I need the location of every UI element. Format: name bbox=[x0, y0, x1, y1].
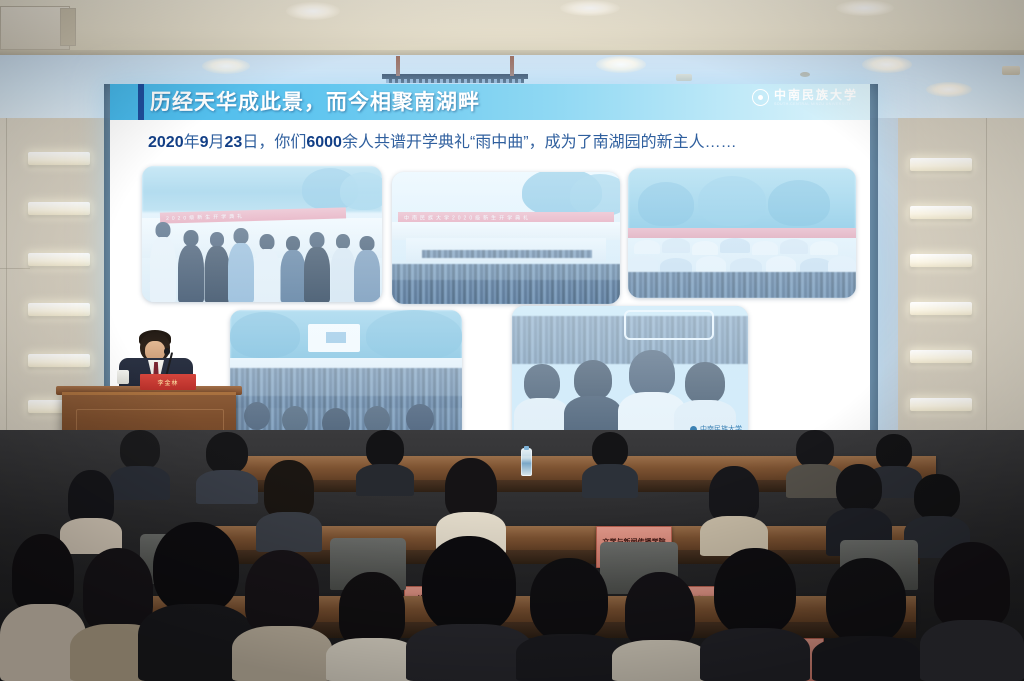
audience-person bbox=[356, 430, 414, 496]
microphone-head-icon bbox=[164, 348, 170, 355]
photo-light-wash bbox=[628, 168, 856, 298]
slide-photo-3 bbox=[628, 168, 856, 298]
wall-lamp bbox=[910, 302, 972, 315]
audience-person bbox=[232, 550, 332, 681]
photo-light-wash bbox=[230, 310, 462, 440]
water-cup bbox=[117, 370, 129, 384]
wall-lamp bbox=[910, 206, 972, 219]
audience-person bbox=[326, 572, 418, 681]
ceiling-downlight bbox=[286, 2, 340, 20]
photo-light-wash bbox=[512, 306, 748, 440]
wall-lamp bbox=[910, 254, 972, 267]
university-logo: 中南民族大学 SOUTH-CENTRAL MINZU UNIVERSITY bbox=[752, 89, 858, 107]
slide-photo-2: 中南民族大学2020级新生开学典礼 bbox=[392, 172, 620, 304]
audience-person bbox=[256, 460, 322, 552]
subtitle-month: 9 bbox=[200, 134, 209, 151]
slide-photo-4 bbox=[230, 310, 462, 440]
water-bottle bbox=[521, 448, 532, 476]
slide-title: 历经天华成此景，而今相聚南湖畔 bbox=[150, 87, 480, 119]
subtitle-mid3: 日，你们 bbox=[242, 134, 306, 151]
wall-lamp bbox=[28, 303, 90, 316]
photo-light-wash bbox=[392, 172, 620, 304]
audience-person bbox=[406, 536, 532, 681]
audience-person bbox=[812, 558, 920, 681]
ceiling-downlight bbox=[596, 56, 646, 73]
audience-person bbox=[582, 432, 638, 498]
ceiling-downlight bbox=[202, 58, 250, 74]
audience-person bbox=[196, 432, 258, 504]
slide-header-accent bbox=[138, 84, 144, 120]
audience-person bbox=[700, 466, 768, 556]
ceiling-downlight bbox=[926, 82, 972, 97]
smoke-detector-icon bbox=[800, 72, 810, 77]
slide-photo-5: 中南民族大学 bbox=[512, 306, 748, 440]
logo-name-cn: 中南民族大学 bbox=[774, 89, 858, 101]
subtitle-mid2: 月 bbox=[209, 134, 225, 151]
wall-lamp bbox=[28, 354, 90, 367]
subtitle-mid1: 年 bbox=[184, 134, 200, 151]
truss-leg bbox=[510, 56, 514, 76]
audience-person bbox=[700, 548, 810, 681]
screen-frame-right bbox=[869, 84, 878, 449]
subtitle-year: 2020 bbox=[148, 134, 184, 151]
audience-person bbox=[516, 558, 622, 681]
slide-subtitle: 2020年9月23日，你们6000余人共谱开学典礼“雨中曲”，成为了南湖园的新主… bbox=[148, 128, 848, 152]
wall-lamp bbox=[28, 253, 90, 266]
ceiling-downlight bbox=[560, 0, 620, 16]
podium-nameplate-text: 李金林 bbox=[157, 378, 178, 387]
ceiling-speaker bbox=[1002, 66, 1020, 75]
ceiling-downlight bbox=[836, 0, 894, 16]
subtitle-count: 6000 bbox=[306, 134, 342, 151]
photo-light-wash bbox=[142, 166, 382, 302]
audience-person bbox=[920, 542, 1024, 681]
logo-emblem-icon bbox=[752, 89, 769, 106]
wall-lamp bbox=[910, 158, 972, 171]
wall-lamp bbox=[28, 152, 90, 165]
auditorium-scene: 历经天华成此景，而今相聚南湖畔 中南民族大学 SOUTH-CENTRAL MIN… bbox=[0, 0, 1024, 681]
ceiling-speaker-box bbox=[60, 8, 76, 46]
ceiling-downlight bbox=[862, 56, 912, 73]
audience-person bbox=[612, 572, 708, 681]
audience-area: 文学与新闻传播学院 学生代表 外语学院 经济学院 计算机科学学院 学生代表 bbox=[0, 430, 1024, 681]
truss-leg bbox=[396, 56, 400, 76]
wall-lamp bbox=[910, 398, 972, 411]
slide-photo-1: 2020级新生开学典礼 bbox=[142, 166, 382, 302]
wall-lamp bbox=[910, 350, 972, 363]
podium-nameplate: 李金林 bbox=[140, 374, 196, 390]
wall-lamp bbox=[28, 202, 90, 215]
subtitle-tail: 余人共谱开学典礼“雨中曲”，成为了南湖园的新主人…… bbox=[342, 134, 737, 151]
logo-name-en: SOUTH-CENTRAL MINZU UNIVERSITY bbox=[774, 103, 858, 107]
wall-seam bbox=[0, 268, 30, 269]
subtitle-day: 23 bbox=[225, 134, 243, 151]
